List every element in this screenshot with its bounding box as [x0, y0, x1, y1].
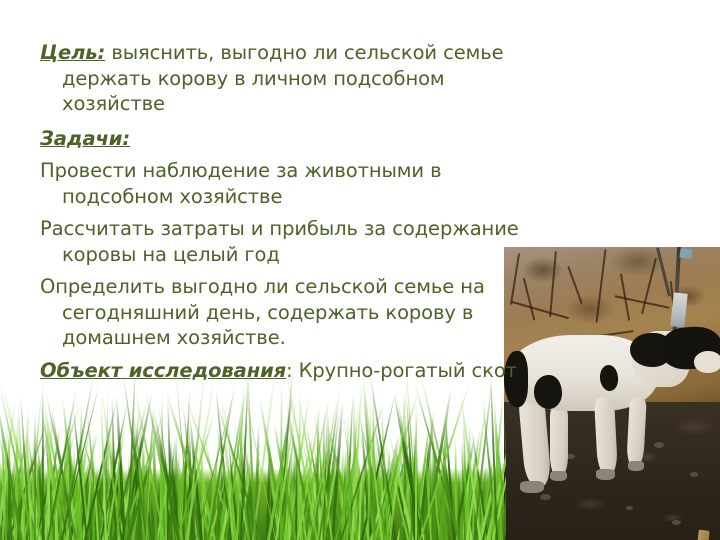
grass-blade: [41, 380, 43, 540]
goal-label: Цель:: [40, 41, 105, 64]
presentation-slide: Цель: выяснить, выгодно ли сельской семь…: [0, 0, 720, 540]
slide-text-body: Цель: выяснить, выгодно ли сельской семь…: [0, 40, 520, 383]
grass-blades: [0, 360, 506, 540]
cow-spot: [534, 375, 562, 409]
cow-hind-leg-right: [550, 405, 568, 477]
paragraph-goal: Цель: выяснить, выгодно ли сельской семь…: [40, 40, 520, 117]
task-2-text: Рассчитать затраты и прибыль за содержан…: [40, 217, 519, 266]
cow-front-leg-right: [626, 397, 647, 468]
object-label: Объект исследования: [40, 359, 286, 382]
paragraph-task-2: Рассчитать затраты и прибыль за содержан…: [40, 216, 520, 267]
cow-hoof: [596, 469, 615, 480]
task-1-text: Провести наблюдение за животными в подсо…: [40, 159, 441, 208]
cow-muzzle: [693, 350, 720, 375]
paragraph-task-3: Определить выгодно ли сельской семье на …: [40, 274, 520, 351]
paragraph-task-1: Провести наблюдение за животными в подсо…: [40, 158, 520, 209]
object-text: : Крупно-рогатый скот: [286, 359, 517, 382]
paragraph-tasks-heading: Задачи:: [40, 126, 520, 152]
task-3-text: Определить выгодно ли сельской семье на …: [40, 275, 485, 349]
cow-hoof: [550, 471, 567, 481]
paragraph-object: Объект исследования: Крупно-рогатый скот: [40, 358, 520, 384]
tasks-heading-label: Задачи:: [40, 127, 130, 150]
cow-front-leg-left: [594, 397, 618, 476]
cow-hoof: [628, 461, 644, 471]
green-grass-photo-strip: [0, 360, 506, 540]
cow-photograph: [504, 247, 720, 540]
cow-hoof: [520, 481, 544, 493]
grass-blade: [415, 402, 417, 540]
cow: [504, 247, 720, 540]
cow-hind-leg-left: [518, 396, 552, 488]
goal-text: выяснить, выгодно ли сельской семье держ…: [62, 41, 504, 115]
grass-blade: [280, 382, 282, 540]
